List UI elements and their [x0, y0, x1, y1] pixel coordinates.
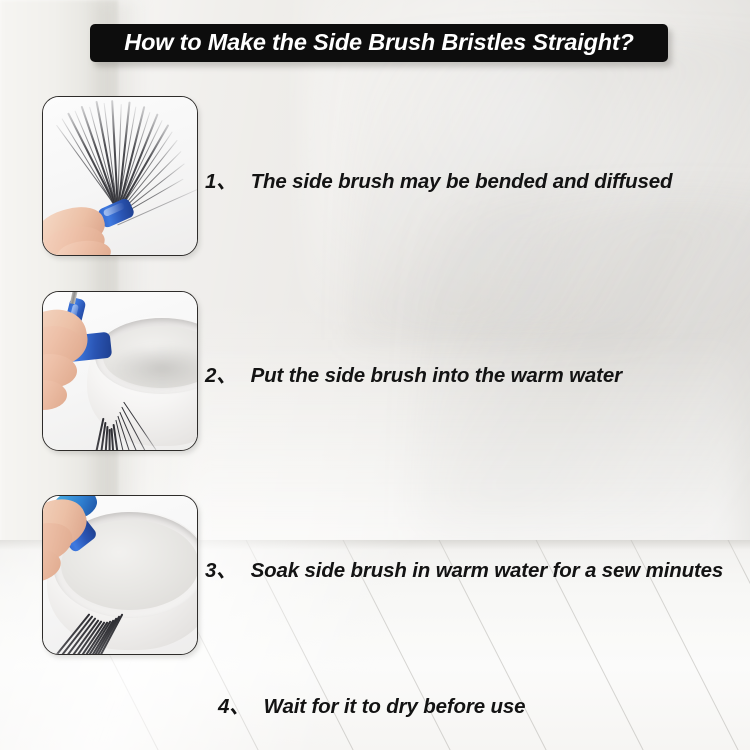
step-2-label: Put the side brush into the warm water [251, 364, 622, 387]
step-photo-1 [42, 96, 198, 256]
instruction-infographic: How to Make the Side Brush Bristles Stra… [0, 0, 750, 750]
step-4-text: 4、Wait for it to dry before use [218, 697, 525, 718]
step-photo-3 [42, 495, 198, 655]
step-1-text: 1、The side brush may be bended and diffu… [205, 172, 672, 193]
step-3-label: Soak side brush in warm water for a sew … [251, 559, 724, 582]
step-4-label: Wait for it to dry before use [264, 695, 526, 718]
step-2-text: 2、Put the side brush into the warm water [205, 366, 622, 387]
page-title: How to Make the Side Brush Bristles Stra… [124, 31, 633, 55]
step-4-number: 4、 [218, 697, 250, 718]
step-1-label: The side brush may be bended and diffuse… [251, 170, 673, 193]
title-banner: How to Make the Side Brush Bristles Stra… [90, 24, 668, 62]
step-3-number: 3、 [205, 561, 237, 582]
step-3-text: 3、Soak side brush in warm water for a se… [205, 561, 723, 582]
step-2-number: 2、 [205, 366, 237, 387]
wall-corner-shade [96, 0, 142, 548]
step-photo-2 [42, 291, 198, 451]
step-1-number: 1、 [205, 172, 237, 193]
